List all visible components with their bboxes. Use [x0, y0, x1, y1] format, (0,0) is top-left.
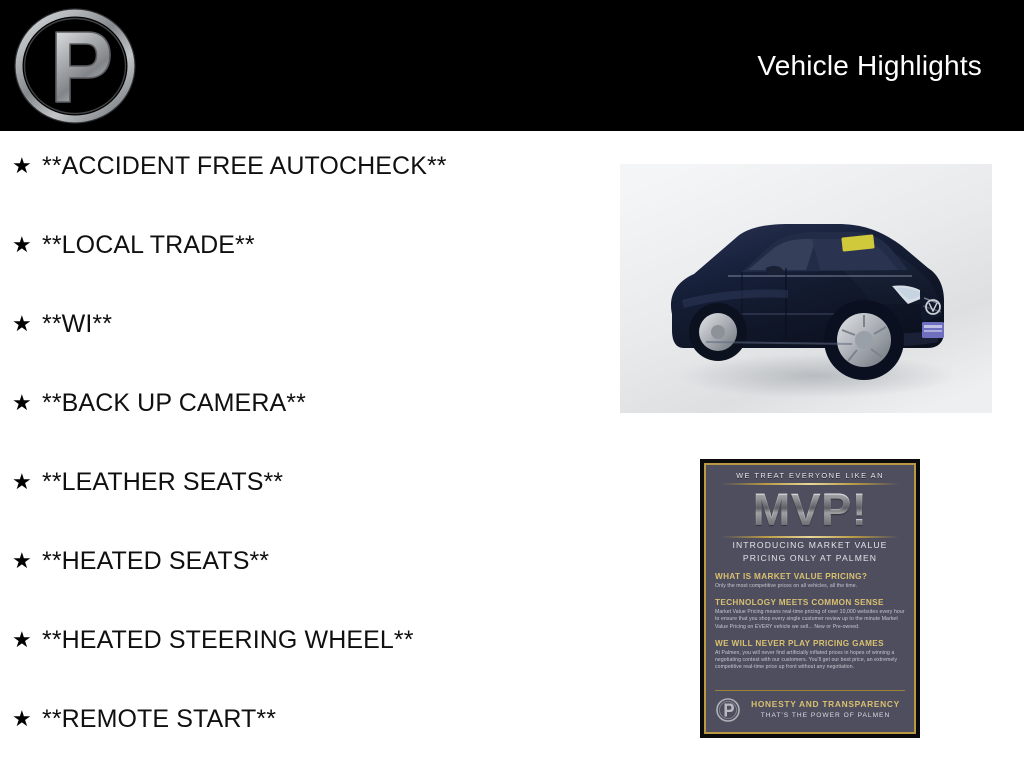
- list-item: ★ **ACCIDENT FREE AUTOCHECK**: [0, 150, 600, 229]
- poster-section: WE WILL NEVER PLAY PRICING GAMES At Palm…: [715, 638, 905, 672]
- poster-section-title: WE WILL NEVER PLAY PRICING GAMES: [715, 638, 905, 649]
- star-icon: ★: [12, 387, 42, 419]
- list-item: ★ **HEATED SEATS**: [0, 545, 600, 624]
- list-item: ★ **WI**: [0, 308, 600, 387]
- vehicle-highlights-list: ★ **ACCIDENT FREE AUTOCHECK** ★ **LOCAL …: [0, 150, 600, 782]
- star-icon: ★: [12, 703, 42, 735]
- highlight-label: **WI**: [42, 308, 600, 340]
- highlight-label: **LEATHER SEATS**: [42, 466, 600, 498]
- list-item: ★ **LEATHER SEATS**: [0, 466, 600, 545]
- star-icon: ★: [12, 624, 42, 656]
- poster-subhead-line-2: PRICING ONLY AT PALMEN: [715, 553, 905, 564]
- poster-section-text: At Palmen, you will never find artificia…: [715, 650, 905, 672]
- highlight-label: **HEATED STEERING WHEEL**: [42, 624, 600, 656]
- poster-divider-mid: [721, 536, 899, 538]
- poster-section-text: Market Value Pricing means real-time pri…: [715, 609, 905, 631]
- palmen-p-logo-icon-small: [715, 697, 741, 723]
- star-icon: ★: [12, 466, 42, 498]
- palmen-p-logo-icon: [12, 8, 138, 124]
- highlight-label: **ACCIDENT FREE AUTOCHECK**: [42, 150, 600, 182]
- list-item: ★ **BACK UP CAMERA**: [0, 387, 600, 466]
- page-header: Vehicle Highlights: [0, 0, 1024, 131]
- highlight-label: **REMOTE START**: [42, 703, 600, 735]
- poster-section-text: Only the most competitive prices on all …: [715, 583, 905, 590]
- poster-section: TECHNOLOGY MEETS COMMON SENSE Market Val…: [715, 597, 905, 631]
- poster-footer: HONESTY AND TRANSPARENCY THAT'S THE POWE…: [715, 690, 905, 727]
- page-title: Vehicle Highlights: [757, 49, 982, 83]
- list-item: ★ **HEATED STEERING WHEEL**: [0, 624, 600, 703]
- star-icon: ★: [12, 545, 42, 577]
- star-icon: ★: [12, 150, 42, 182]
- poster-section-title: WHAT IS MARKET VALUE PRICING?: [715, 571, 905, 582]
- star-icon: ★: [12, 229, 42, 261]
- poster-footer-line-1: HONESTY AND TRANSPARENCY: [746, 699, 905, 710]
- poster-footer-line-2: THAT'S THE POWER OF PALMEN: [746, 711, 905, 721]
- poster-subhead-line-1: INTRODUCING MARKET VALUE: [715, 540, 905, 551]
- star-icon: ★: [12, 308, 42, 340]
- vehicle-photo: [620, 164, 992, 413]
- highlight-label: **HEATED SEATS**: [42, 545, 600, 577]
- poster-footer-text: HONESTY AND TRANSPARENCY THAT'S THE POWE…: [746, 699, 905, 721]
- list-item: ★ **REMOTE START**: [0, 703, 600, 782]
- highlight-label: **BACK UP CAMERA**: [42, 387, 600, 419]
- highlight-label: **LOCAL TRADE**: [42, 229, 600, 261]
- poster-section: WHAT IS MARKET VALUE PRICING? Only the m…: [715, 571, 905, 590]
- poster-headline: MVP!: [715, 486, 905, 534]
- poster-body: WHAT IS MARKET VALUE PRICING? Only the m…: [715, 571, 905, 671]
- vehicle-highlights-page: Vehicle Highlights ★ **ACCIDENT FREE AUT…: [0, 0, 1024, 768]
- poster-inner: WE TREAT EVERYONE LIKE AN MVP! INTRODUCI…: [704, 463, 916, 734]
- list-item: ★ **LOCAL TRADE**: [0, 229, 600, 308]
- poster-section-title: TECHNOLOGY MEETS COMMON SENSE: [715, 597, 905, 608]
- poster-eyebrow: WE TREAT EVERYONE LIKE AN: [715, 471, 905, 481]
- mvp-promo-poster: WE TREAT EVERYONE LIKE AN MVP! INTRODUCI…: [700, 459, 920, 738]
